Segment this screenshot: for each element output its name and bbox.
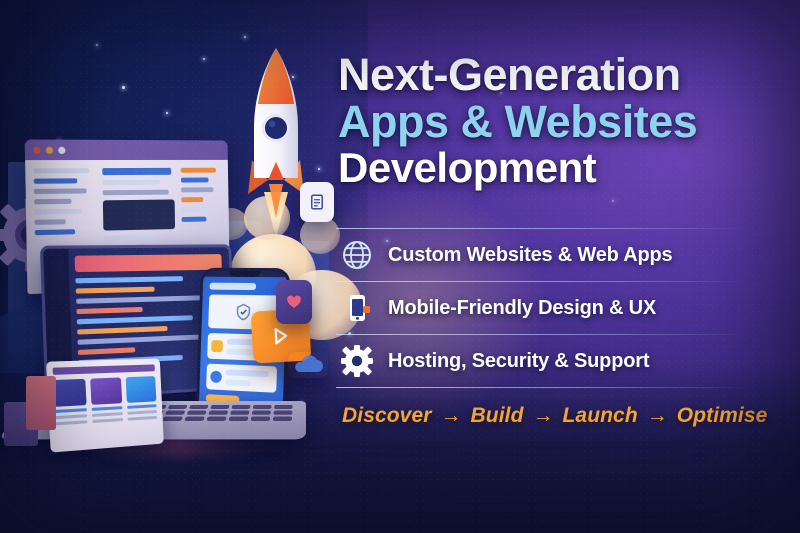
heart-icon [285,293,303,311]
tablet-columns [53,376,157,425]
window-minimize-dot [46,146,53,153]
floating-card-document [300,182,334,222]
window-close-dot [33,146,40,153]
window-maximize-dot [58,146,65,153]
promotional-banner: Next-Generation Apps & Websites Developm… [0,0,800,533]
page-title: Next-Generation Apps & Websites Developm… [338,52,778,189]
devices-and-rocket-artwork [0,0,340,533]
tablet-header [52,364,154,374]
cta-step-launch: Launch [563,404,638,427]
floating-card-cloud [288,352,328,378]
send-arrow-icon [268,323,293,348]
mobile-phone-icon [340,291,374,325]
cta-step-build: Build [471,404,524,427]
headline-line-3: Development [338,146,778,190]
floating-card-lock [276,280,312,324]
feature-label: Hosting, Security & Support [388,350,649,373]
headline-line-2: Apps & Websites [338,99,778,146]
editor-header-bar [75,254,222,272]
feature-label: Custom Websites & Web Apps [388,244,672,267]
document-icon [308,193,326,211]
divider [336,387,748,388]
gear-icon [340,344,374,378]
headline-line-1: Next-Generation [338,52,778,99]
process-steps-cta: Discover → Build → Launch → Optimise [342,404,767,428]
arrow-right-icon: → [529,404,556,427]
cloud-icon [288,353,328,377]
browser-titlebar [25,139,228,160]
arrow-right-icon: → [644,404,671,427]
feature-row-hosting: Hosting, Security & Support [336,335,792,387]
phone-card [206,364,277,393]
arrow-right-icon: → [437,404,464,427]
tablet-layout-card [46,358,164,452]
cta-step-discover: Discover [342,404,432,427]
feature-list: Custom Websites & Web Apps Mobile-Friend… [336,228,792,388]
shield-check-icon [234,303,252,321]
feature-row-websites: Custom Websites & Web Apps [336,229,792,281]
cta-step-optimise: Optimise [677,404,768,427]
content-column: Next-Generation Apps & Websites Developm… [336,0,800,533]
feature-row-mobile: Mobile-Friendly Design & UX [336,282,792,334]
globe-icon [340,238,374,272]
decorative-boxes [4,372,56,446]
feature-label: Mobile-Friendly Design & UX [388,297,656,320]
